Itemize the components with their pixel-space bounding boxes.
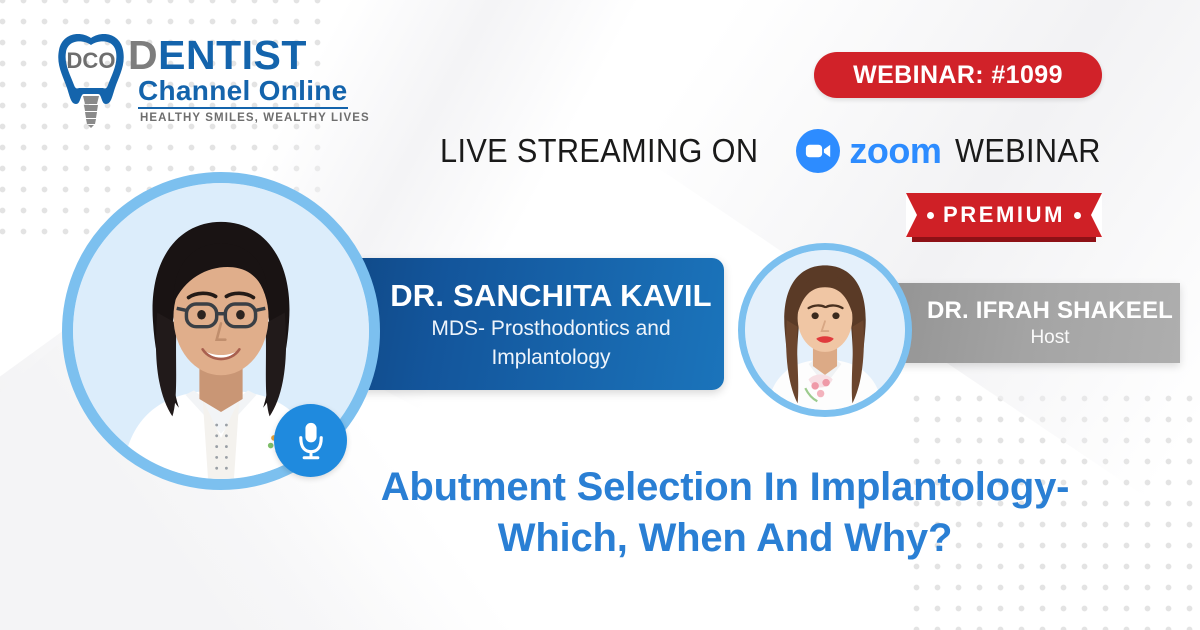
host-role: Host xyxy=(1030,327,1069,349)
webinar-title-line1: Abutment Selection In Implantology- xyxy=(381,465,1070,509)
brand-logo[interactable]: DCO DENTIST Channel Online HEALTHY SMILE… xyxy=(52,32,342,132)
premium-notch-left xyxy=(906,193,917,237)
host-name: DR. IFRAH SHAKEEL xyxy=(927,297,1173,326)
host-name-plate-text: DR. IFRAH SHAKEEL Host xyxy=(920,283,1180,363)
premium-dot-right xyxy=(1074,212,1081,219)
tooth-implant-icon: DCO xyxy=(52,32,130,128)
brand-tagline: HEALTHY SMILES, WEALTHY LIVES xyxy=(140,112,388,124)
premium-label: PREMIUM xyxy=(943,202,1065,228)
webinar-title: Abutment Selection In Implantology- Whic… xyxy=(300,462,1150,564)
brand-underline xyxy=(138,107,348,109)
brand-wordmark: DENTIST Channel Online HEALTHY SMILES, W… xyxy=(128,36,388,124)
webinar-number-badge: WEBINAR: #1099 xyxy=(814,52,1102,98)
webinar-title-line2: Which, When And Why? xyxy=(300,513,1150,564)
live-streaming-row: LIVE STREAMING ON zoom WEBINAR xyxy=(440,128,1112,174)
premium-notch-right xyxy=(1091,193,1102,237)
premium-dot-left xyxy=(927,212,934,219)
speaker-credentials-line2: Implantology xyxy=(491,345,610,371)
svg-text:DCO: DCO xyxy=(67,48,116,73)
premium-badge: PREMIUM xyxy=(906,193,1102,243)
brand-name-line1: DENTIST xyxy=(128,36,388,75)
live-streaming-prefix: LIVE STREAMING ON xyxy=(440,132,758,170)
brand-name-line2: Channel Online xyxy=(128,76,388,105)
live-streaming-suffix: WEBINAR xyxy=(955,132,1101,170)
speaker-credentials-line1: MDS- Prosthodontics and xyxy=(431,316,670,342)
zoom-logo: zoom xyxy=(796,129,941,173)
video-camera-icon xyxy=(796,129,840,173)
brand-name-rest: ENTIST xyxy=(158,32,307,78)
speaker-name: DR. SANCHITA KAVIL xyxy=(390,278,712,314)
webinar-number-label: WEBINAR: #1099 xyxy=(853,61,1063,90)
premium-badge-body: PREMIUM xyxy=(906,193,1102,237)
speaker-name-plate-text: DR. SANCHITA KAVIL MDS- Prosthodontics a… xyxy=(378,258,724,390)
zoom-wordmark: zoom xyxy=(849,133,941,169)
host-avatar xyxy=(738,243,912,417)
brand-name-initial: D xyxy=(128,32,158,78)
webinar-promo-banner: DCO DENTIST Channel Online HEALTHY SMILE… xyxy=(0,0,1200,630)
